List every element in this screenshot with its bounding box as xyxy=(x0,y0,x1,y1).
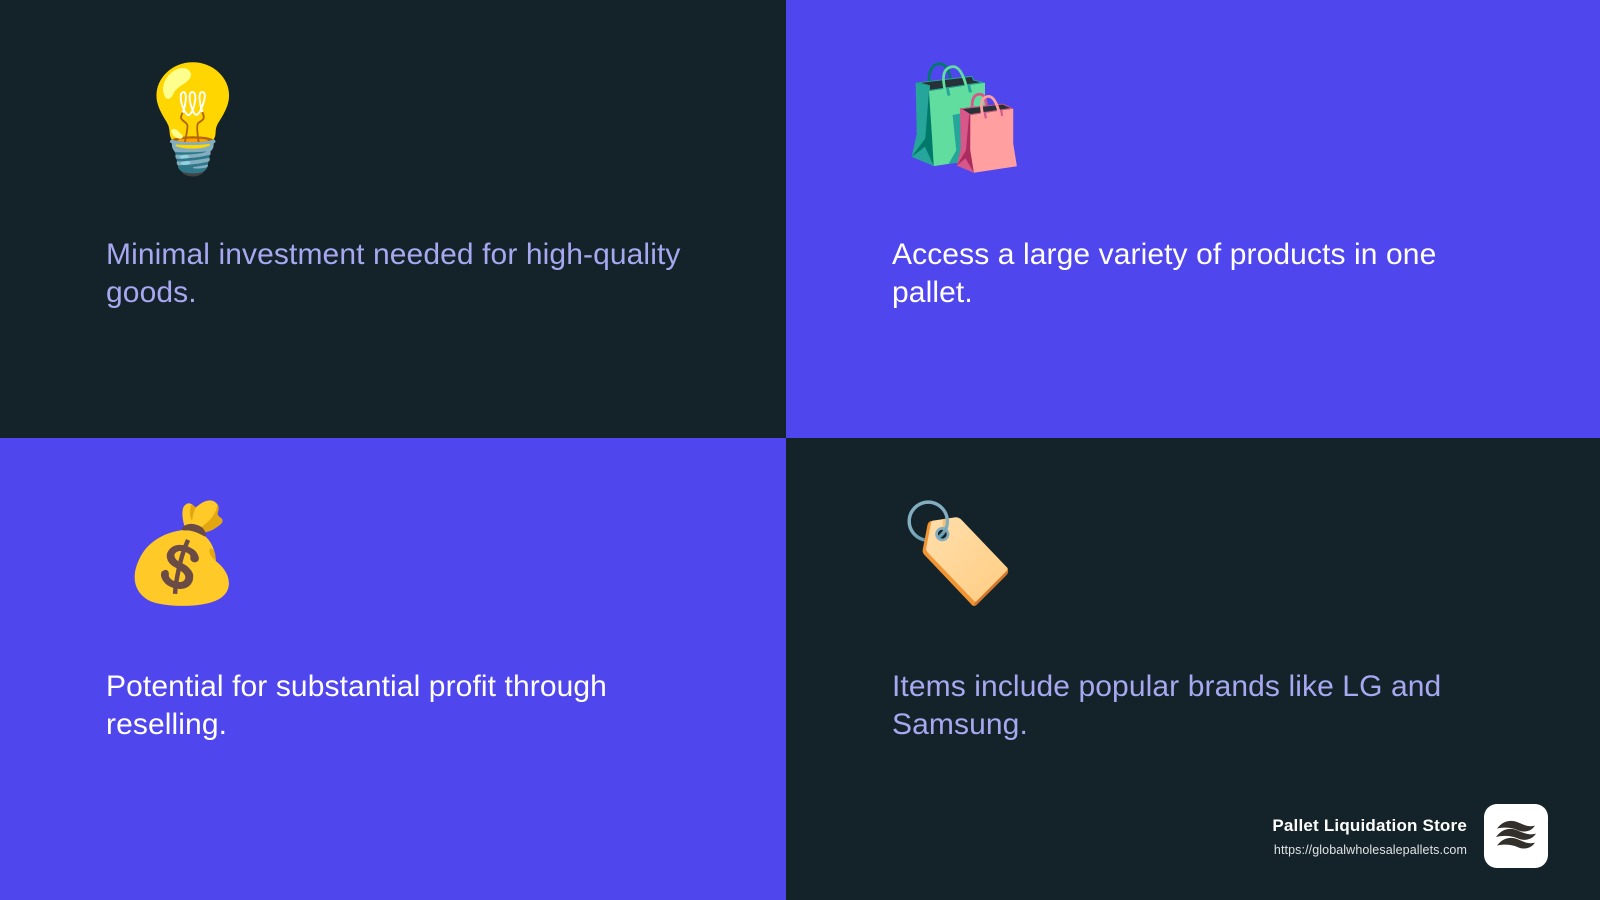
shopping-bags-icon: 🛍️ xyxy=(902,68,1600,190)
brand-name: Pallet Liquidation Store xyxy=(1272,816,1467,836)
quadrant-bottom-right: 🏷️ Items include popular brands like LG … xyxy=(786,438,1600,900)
wave-mark-icon xyxy=(1493,816,1539,856)
quadrant-caption-bottom-left: Potential for substantial profit through… xyxy=(106,668,686,745)
light-bulb-icon: 💡 xyxy=(128,68,786,190)
quadrant-top-left: 💡 Minimal investment needed for high-qua… xyxy=(0,0,786,438)
quadrant-caption-top-right: Access a large variety of products in on… xyxy=(892,236,1472,313)
quadrant-caption-bottom-right: Items include popular brands like LG and… xyxy=(892,668,1472,745)
quadrant-top-right: 🛍️ Access a large variety of products in… xyxy=(786,0,1600,438)
money-bag-icon: 💰 xyxy=(122,506,786,616)
quadrant-bottom-left: 💰 Potential for substantial profit throu… xyxy=(0,438,786,900)
brand-block: Pallet Liquidation Store https://globalw… xyxy=(1272,804,1548,868)
brand-text: Pallet Liquidation Store https://globalw… xyxy=(1272,816,1467,857)
infographic-canvas: 💡 Minimal investment needed for high-qua… xyxy=(0,0,1600,900)
label-tag-icon: 🏷️ xyxy=(898,506,1600,616)
quadrant-caption-top-left: Minimal investment needed for high-quali… xyxy=(106,236,686,313)
brand-url[interactable]: https://globalwholesalepallets.com xyxy=(1274,843,1467,857)
brand-logo xyxy=(1484,804,1548,868)
